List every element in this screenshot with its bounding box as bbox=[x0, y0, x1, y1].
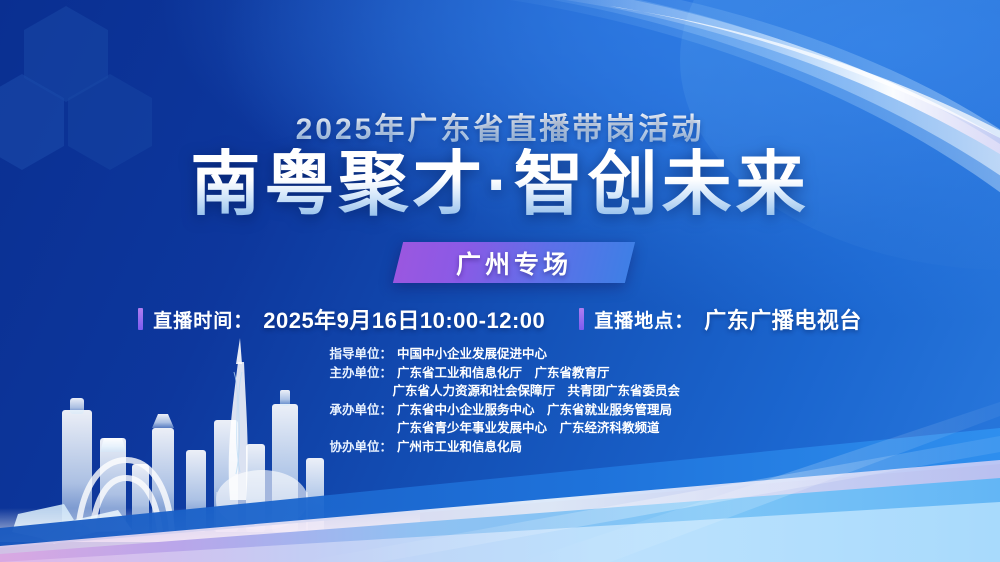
organizer-row: 广东省青少年事业发展中心 广东经济科教频道 bbox=[320, 419, 680, 438]
organizer-list: 指导单位： 中国中小企业发展促进中心 主办单位： 广东省工业和信息化厅 广东省教… bbox=[0, 345, 1000, 456]
organizer-value: 广州市工业和信息化局 bbox=[392, 438, 680, 457]
info-value: 广东广播电视台 bbox=[704, 303, 862, 335]
organizer-label: 指导单位： bbox=[320, 345, 392, 364]
info-label: 直播地点： bbox=[594, 306, 694, 333]
organizer-row: 协办单位： 广州市工业和信息化局 bbox=[320, 438, 680, 457]
organizer-value: 广东省青少年事业发展中心 广东经济科教频道 bbox=[392, 419, 680, 438]
organizer-label: 协办单位： bbox=[320, 438, 392, 457]
info-item-location: 直播地点： 广东广播电视台 bbox=[579, 303, 862, 335]
organizer-label: 承办单位： bbox=[320, 401, 392, 420]
info-label: 直播时间： bbox=[153, 306, 253, 333]
organizer-label: 主办单位： bbox=[320, 364, 392, 383]
event-subtitle: 2025年广东省直播带岗活动 bbox=[0, 104, 1000, 148]
accent-bar-icon bbox=[579, 308, 584, 330]
event-poster: 2025年广东省直播带岗活动 南粤聚才·智创未来 广州专场 直播时间： 2025… bbox=[0, 0, 1000, 562]
event-info-line: 直播时间： 2025年9月16日10:00-12:00 直播地点： 广东广播电视… bbox=[0, 303, 1000, 335]
organizer-row: 广东省人力资源和社会保障厅 共青团广东省委员会 bbox=[320, 382, 680, 401]
organizer-label bbox=[320, 382, 387, 401]
organizer-row: 承办单位： 广东省中小企业服务中心 广东省就业服务管理局 bbox=[320, 401, 680, 420]
organizer-value: 广东省人力资源和社会保障厅 共青团广东省委员会 bbox=[387, 382, 680, 401]
organizer-label bbox=[320, 419, 392, 438]
organizer-row: 指导单位： 中国中小企业发展促进中心 bbox=[320, 345, 680, 364]
page-title: 南粤聚才·智创未来 bbox=[0, 148, 1000, 222]
organizer-row: 主办单位： 广东省工业和信息化厅 广东省教育厅 bbox=[320, 364, 680, 383]
organizer-value: 广东省工业和信息化厅 广东省教育厅 bbox=[392, 364, 680, 383]
session-badge-label: 广州专场 bbox=[398, 242, 630, 283]
organizer-value: 广东省中小企业服务中心 广东省就业服务管理局 bbox=[392, 401, 680, 420]
accent-bar-icon bbox=[138, 308, 143, 330]
info-value: 2025年9月16日10:00-12:00 bbox=[263, 303, 545, 335]
info-item-time: 直播时间： 2025年9月16日10:00-12:00 bbox=[138, 303, 545, 335]
organizer-value: 中国中小企业发展促进中心 bbox=[392, 345, 680, 364]
